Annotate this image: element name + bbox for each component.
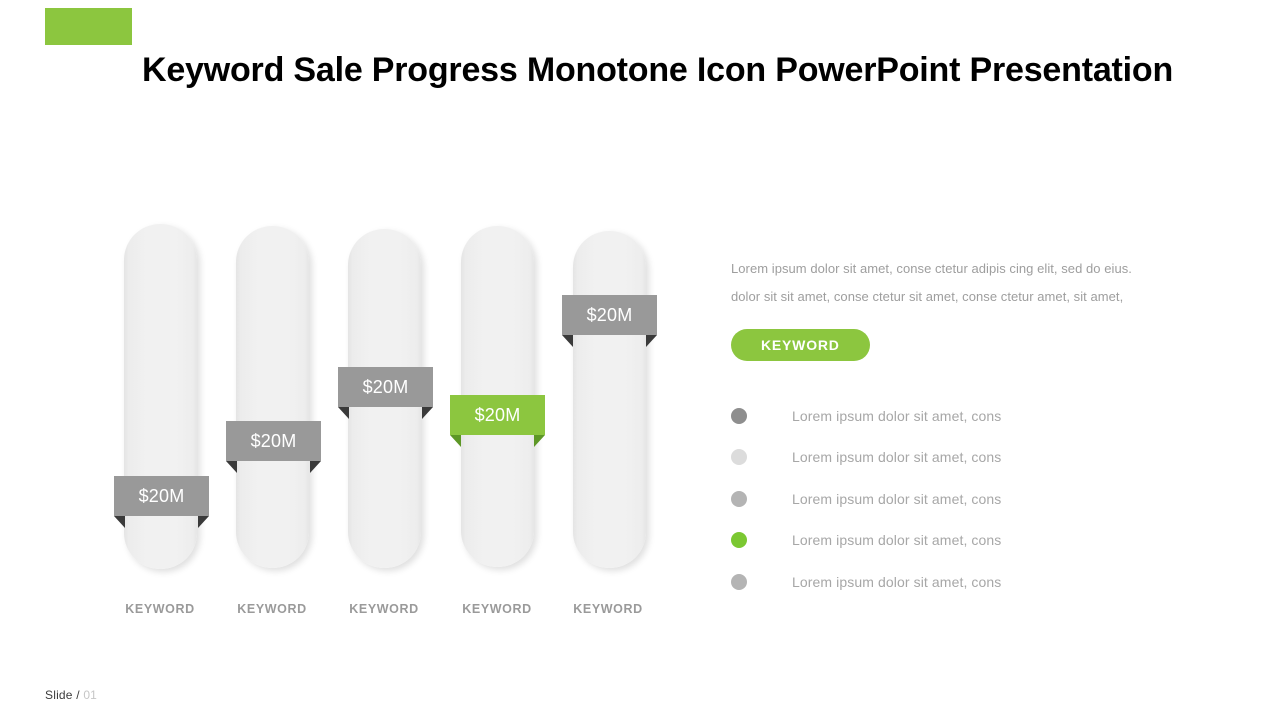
ribbon-fold-left-icon bbox=[338, 407, 349, 419]
bar-caption: KEYWORD bbox=[334, 602, 434, 616]
ribbon-fold-right-icon bbox=[646, 335, 657, 347]
ribbon-fold-right-icon bbox=[422, 407, 433, 419]
bar-value-ribbon[interactable]: $20M bbox=[562, 295, 657, 335]
content-panel: Lorem ipsum dolor sit amet, conse ctetur… bbox=[731, 255, 1191, 603]
bar-track[interactable] bbox=[236, 226, 309, 568]
bar-value-ribbon[interactable]: $20M bbox=[338, 367, 433, 407]
list-item-label: Lorem ipsum dolor sit amet, cons bbox=[792, 449, 1001, 465]
bar-caption: KEYWORD bbox=[558, 602, 658, 616]
bullet-dot-icon bbox=[731, 408, 747, 424]
bullet-dot-icon-highlight bbox=[731, 532, 747, 548]
bar-value-label: $20M bbox=[226, 421, 321, 461]
ribbon-fold-left-icon bbox=[226, 461, 237, 473]
ribbon-fold-left-icon bbox=[450, 435, 461, 447]
bar-track[interactable] bbox=[573, 231, 646, 568]
keyword-button[interactable]: KEYWORD bbox=[731, 329, 870, 361]
bullet-list: Lorem ipsum dolor sit amet, cons Lorem i… bbox=[731, 395, 1191, 603]
list-item[interactable]: Lorem ipsum dolor sit amet, cons bbox=[731, 561, 1191, 603]
bar-value-label: $20M bbox=[450, 395, 545, 435]
ribbon-fold-right-icon bbox=[534, 435, 545, 447]
bar-caption: KEYWORD bbox=[110, 602, 210, 616]
ribbon-fold-left-icon bbox=[114, 516, 125, 528]
list-item-label: Lorem ipsum dolor sit amet, cons bbox=[792, 574, 1001, 590]
ribbon-fold-right-icon bbox=[198, 516, 209, 528]
slide-number: 01 bbox=[83, 688, 97, 702]
ribbon-fold-left-icon bbox=[562, 335, 573, 347]
list-item[interactable]: Lorem ipsum dolor sit amet, cons bbox=[731, 437, 1191, 479]
bar-value-ribbon-highlight[interactable]: $20M bbox=[450, 395, 545, 435]
list-item-label: Lorem ipsum dolor sit amet, cons bbox=[792, 491, 1001, 507]
bar-value-ribbon[interactable]: $20M bbox=[114, 476, 209, 516]
ribbon-fold-right-icon bbox=[310, 461, 321, 473]
bar-caption: KEYWORD bbox=[447, 602, 547, 616]
bar-value-ribbon[interactable]: $20M bbox=[226, 421, 321, 461]
body-text-line-2: dolor sit sit amet, conse ctetur sit ame… bbox=[731, 283, 1191, 311]
bar-track[interactable] bbox=[124, 224, 197, 569]
bullet-dot-icon bbox=[731, 491, 747, 507]
list-item[interactable]: Lorem ipsum dolor sit amet, cons bbox=[731, 395, 1191, 437]
list-item-label: Lorem ipsum dolor sit amet, cons bbox=[792, 408, 1001, 424]
bullet-dot-icon bbox=[731, 574, 747, 590]
slide-footer-label: Slide / bbox=[45, 688, 80, 702]
bullet-dot-icon bbox=[731, 449, 747, 465]
list-item-label: Lorem ipsum dolor sit amet, cons bbox=[792, 532, 1001, 548]
slide-footer: Slide / 01 bbox=[45, 688, 97, 702]
progress-bar-chart: $20M KEYWORD $20M KEYWORD $20M KEYWORD $… bbox=[0, 0, 700, 720]
bar-value-label: $20M bbox=[114, 476, 209, 516]
list-item[interactable]: Lorem ipsum dolor sit amet, cons bbox=[731, 478, 1191, 520]
bar-caption: KEYWORD bbox=[222, 602, 322, 616]
body-text-line-1: Lorem ipsum dolor sit amet, conse ctetur… bbox=[731, 255, 1191, 283]
bar-value-label: $20M bbox=[338, 367, 433, 407]
bar-value-label: $20M bbox=[562, 295, 657, 335]
list-item[interactable]: Lorem ipsum dolor sit amet, cons bbox=[731, 520, 1191, 562]
